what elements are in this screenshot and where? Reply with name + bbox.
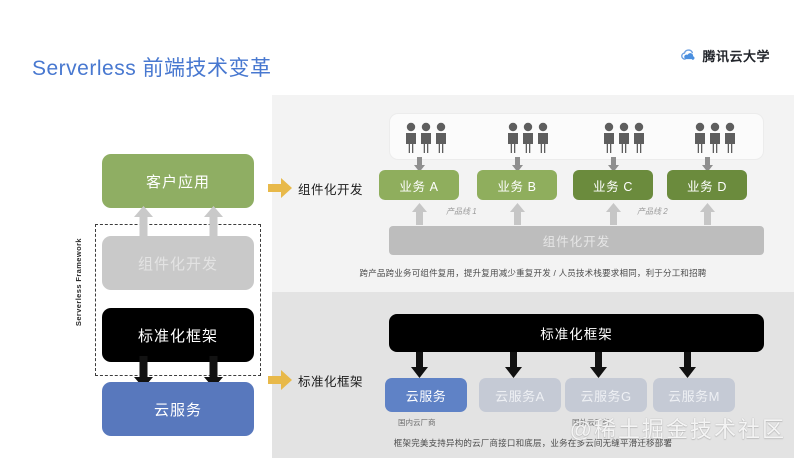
person-icon <box>708 122 722 153</box>
cloud-service-box-g: 云服务G <box>565 378 647 412</box>
team-group-2 <box>506 122 550 153</box>
logo-text: 腾讯云大学 <box>702 46 770 65</box>
team-group-1 <box>404 122 448 153</box>
platform-to-business-arrow-2 <box>510 203 525 225</box>
right-arrow-icon <box>268 178 292 198</box>
up-arrow-left <box>134 206 153 238</box>
platform-to-business-arrow-3 <box>606 203 621 225</box>
product-line-label-2: 产品线 2 <box>637 206 668 217</box>
left-architecture-stack: Serverless Framework 客户应用 组件化开发 标准化框架 <box>88 142 268 437</box>
framework-to-cloud-arrow-4 <box>679 352 696 378</box>
person-icon <box>693 122 707 153</box>
business-box-d: 业务 D <box>667 170 747 200</box>
standard-framework-bar: 标准化框架 <box>389 314 764 352</box>
person-icon <box>521 122 535 153</box>
watermark: @稀土掘金技术社区 <box>570 412 786 444</box>
up-arrow-right <box>204 206 223 238</box>
framework-to-cloud-arrow-3 <box>590 352 607 378</box>
platform-to-business-arrow-1 <box>412 203 427 225</box>
person-icon <box>723 122 737 153</box>
page-title: Serverless 前端技术变革 <box>32 52 272 82</box>
team-group-4 <box>693 122 737 153</box>
team-group-3 <box>602 122 646 153</box>
framework-to-cloud-arrow-1 <box>411 352 428 378</box>
person-icon <box>602 122 616 153</box>
person-icon <box>434 122 448 153</box>
cloud-service-box-a: 云服务A <box>479 378 561 412</box>
slide-canvas: Serverless 前端技术变革 腾讯云大学 Serverless Frame… <box>0 0 794 458</box>
step-label-standardization: 标准化框架 <box>298 371 363 390</box>
box-componentized-development: 组件化开发 <box>102 236 254 290</box>
cloud-icon <box>680 47 697 64</box>
business-box-a: 业务 A <box>379 170 459 200</box>
person-icon <box>617 122 631 153</box>
componentization-platform-bar: 组件化开发 <box>389 226 764 255</box>
step-standardization: 标准化框架 <box>268 370 363 390</box>
box-standard-framework: 标准化框架 <box>102 308 254 362</box>
person-icon <box>632 122 646 153</box>
platform-to-business-arrow-4 <box>700 203 715 225</box>
person-icon <box>536 122 550 153</box>
teams-container <box>389 113 764 160</box>
serverless-framework-label: Serverless Framework <box>74 238 83 326</box>
vendor-label-domestic: 国内云厂商 <box>398 417 436 428</box>
product-line-label-1: 产品线 1 <box>446 206 477 217</box>
componentization-caption: 跨产品跨业务可组件复用，提升复用减少重复开发 / 人员技术栈要求相同，利于分工和… <box>272 267 794 279</box>
step-componentization: 组件化开发 <box>268 178 363 198</box>
person-icon <box>404 122 418 153</box>
framework-to-cloud-arrow-2 <box>505 352 522 378</box>
step-label-componentization: 组件化开发 <box>298 179 363 198</box>
cloud-service-box-m: 云服务M <box>653 378 735 412</box>
business-box-c: 业务 C <box>573 170 653 200</box>
person-icon <box>419 122 433 153</box>
business-box-b: 业务 B <box>477 170 557 200</box>
box-cloud-service: 云服务 <box>102 382 254 436</box>
person-icon <box>506 122 520 153</box>
cloud-service-box-domestic: 云服务 <box>385 378 467 412</box>
box-client-application: 客户应用 <box>102 154 254 208</box>
brand-logo: 腾讯云大学 <box>680 46 770 65</box>
right-arrow-icon <box>268 370 292 390</box>
